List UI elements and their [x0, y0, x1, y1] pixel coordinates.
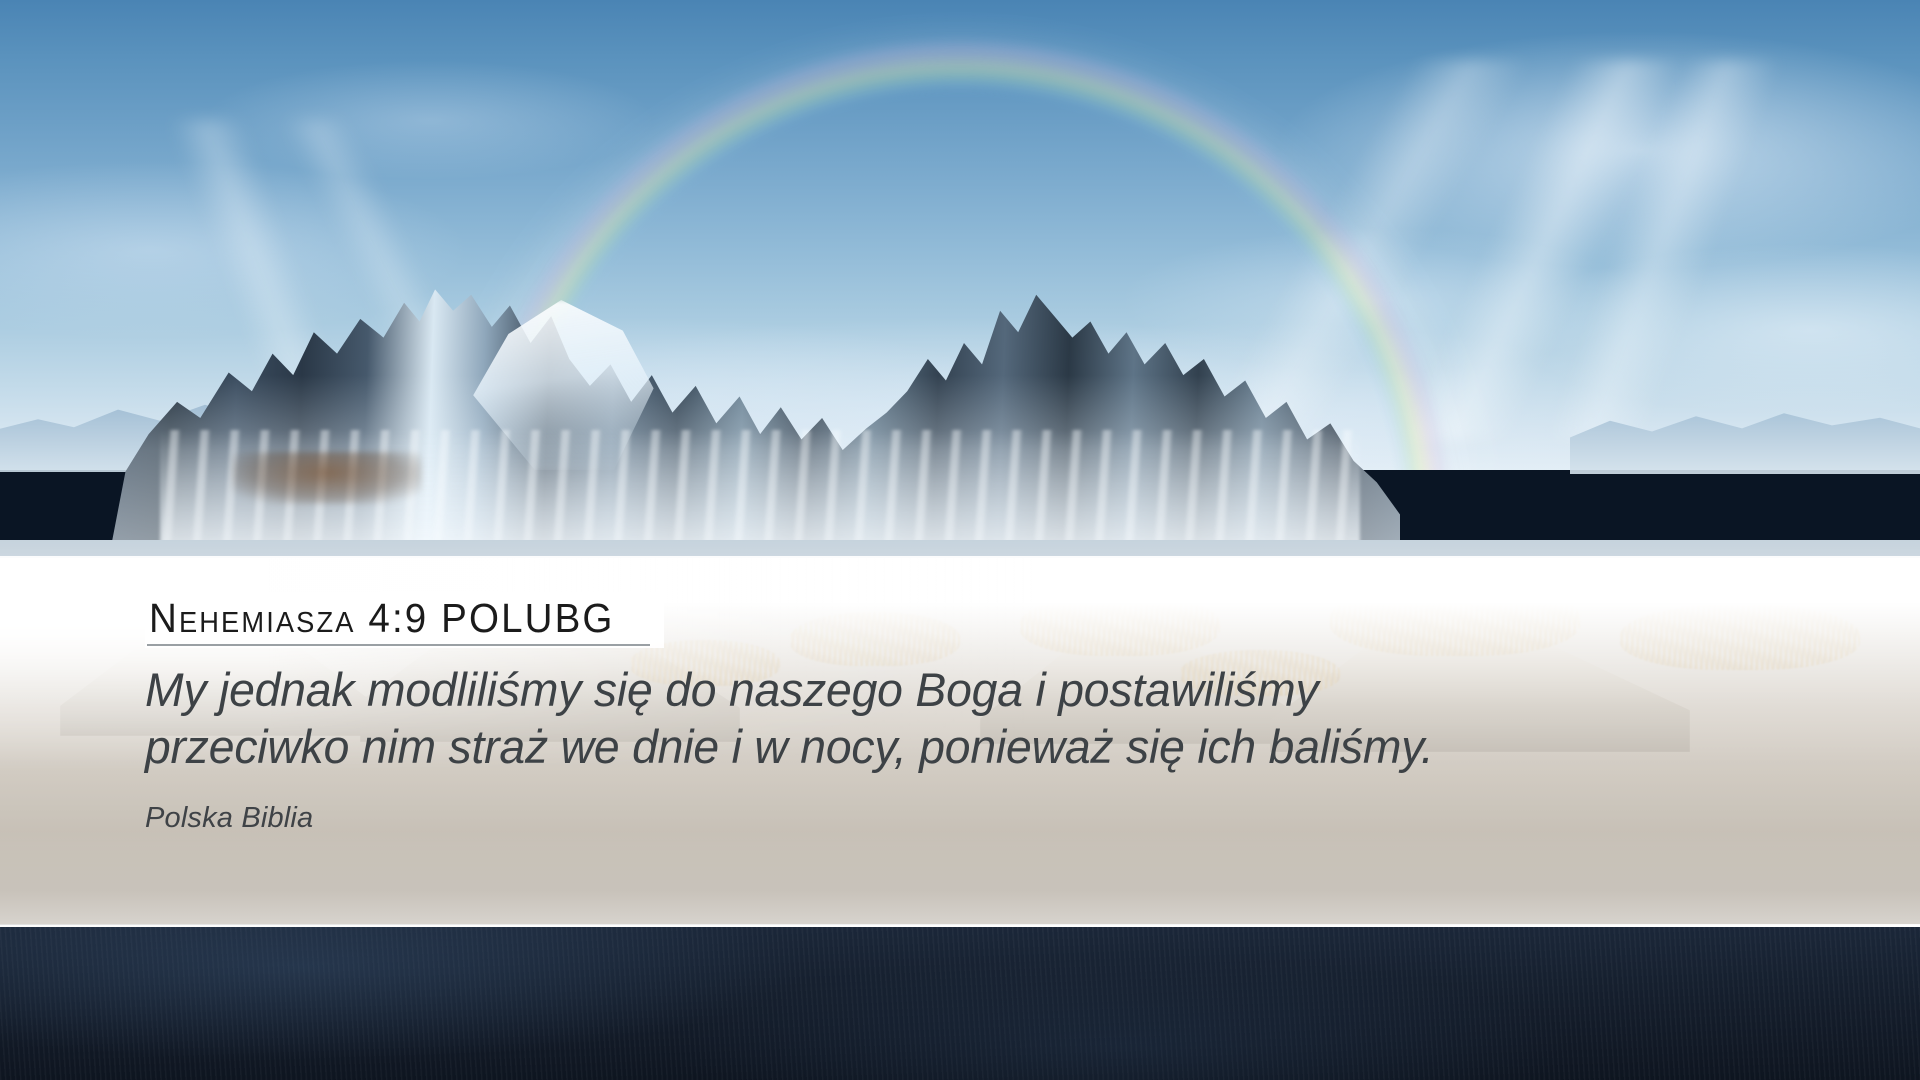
reference-underline: [147, 644, 650, 646]
verse-text-block: Nehemiasza 4:9 POLUBG My jednak modliliś…: [0, 558, 1920, 927]
verse-line: przeciwko nim straż we dnie i w nocy, po…: [145, 719, 1760, 776]
verse-image-canvas: Nehemiasza 4:9 POLUBG My jednak modliliś…: [0, 0, 1920, 1080]
verse-body: My jednak modliliśmy się do naszego Boga…: [145, 662, 1760, 776]
scree-patch: [232, 452, 422, 504]
black-sand-beach: [0, 927, 1920, 1080]
reference-badge: Nehemiasza 4:9 POLUBG: [145, 592, 664, 648]
verse-reference: Nehemiasza 4:9 POLUBG: [149, 596, 615, 640]
translation-attribution: Polska Biblia: [145, 802, 1920, 835]
verse-line: My jednak modliliśmy się do naszego Boga…: [145, 662, 1760, 719]
